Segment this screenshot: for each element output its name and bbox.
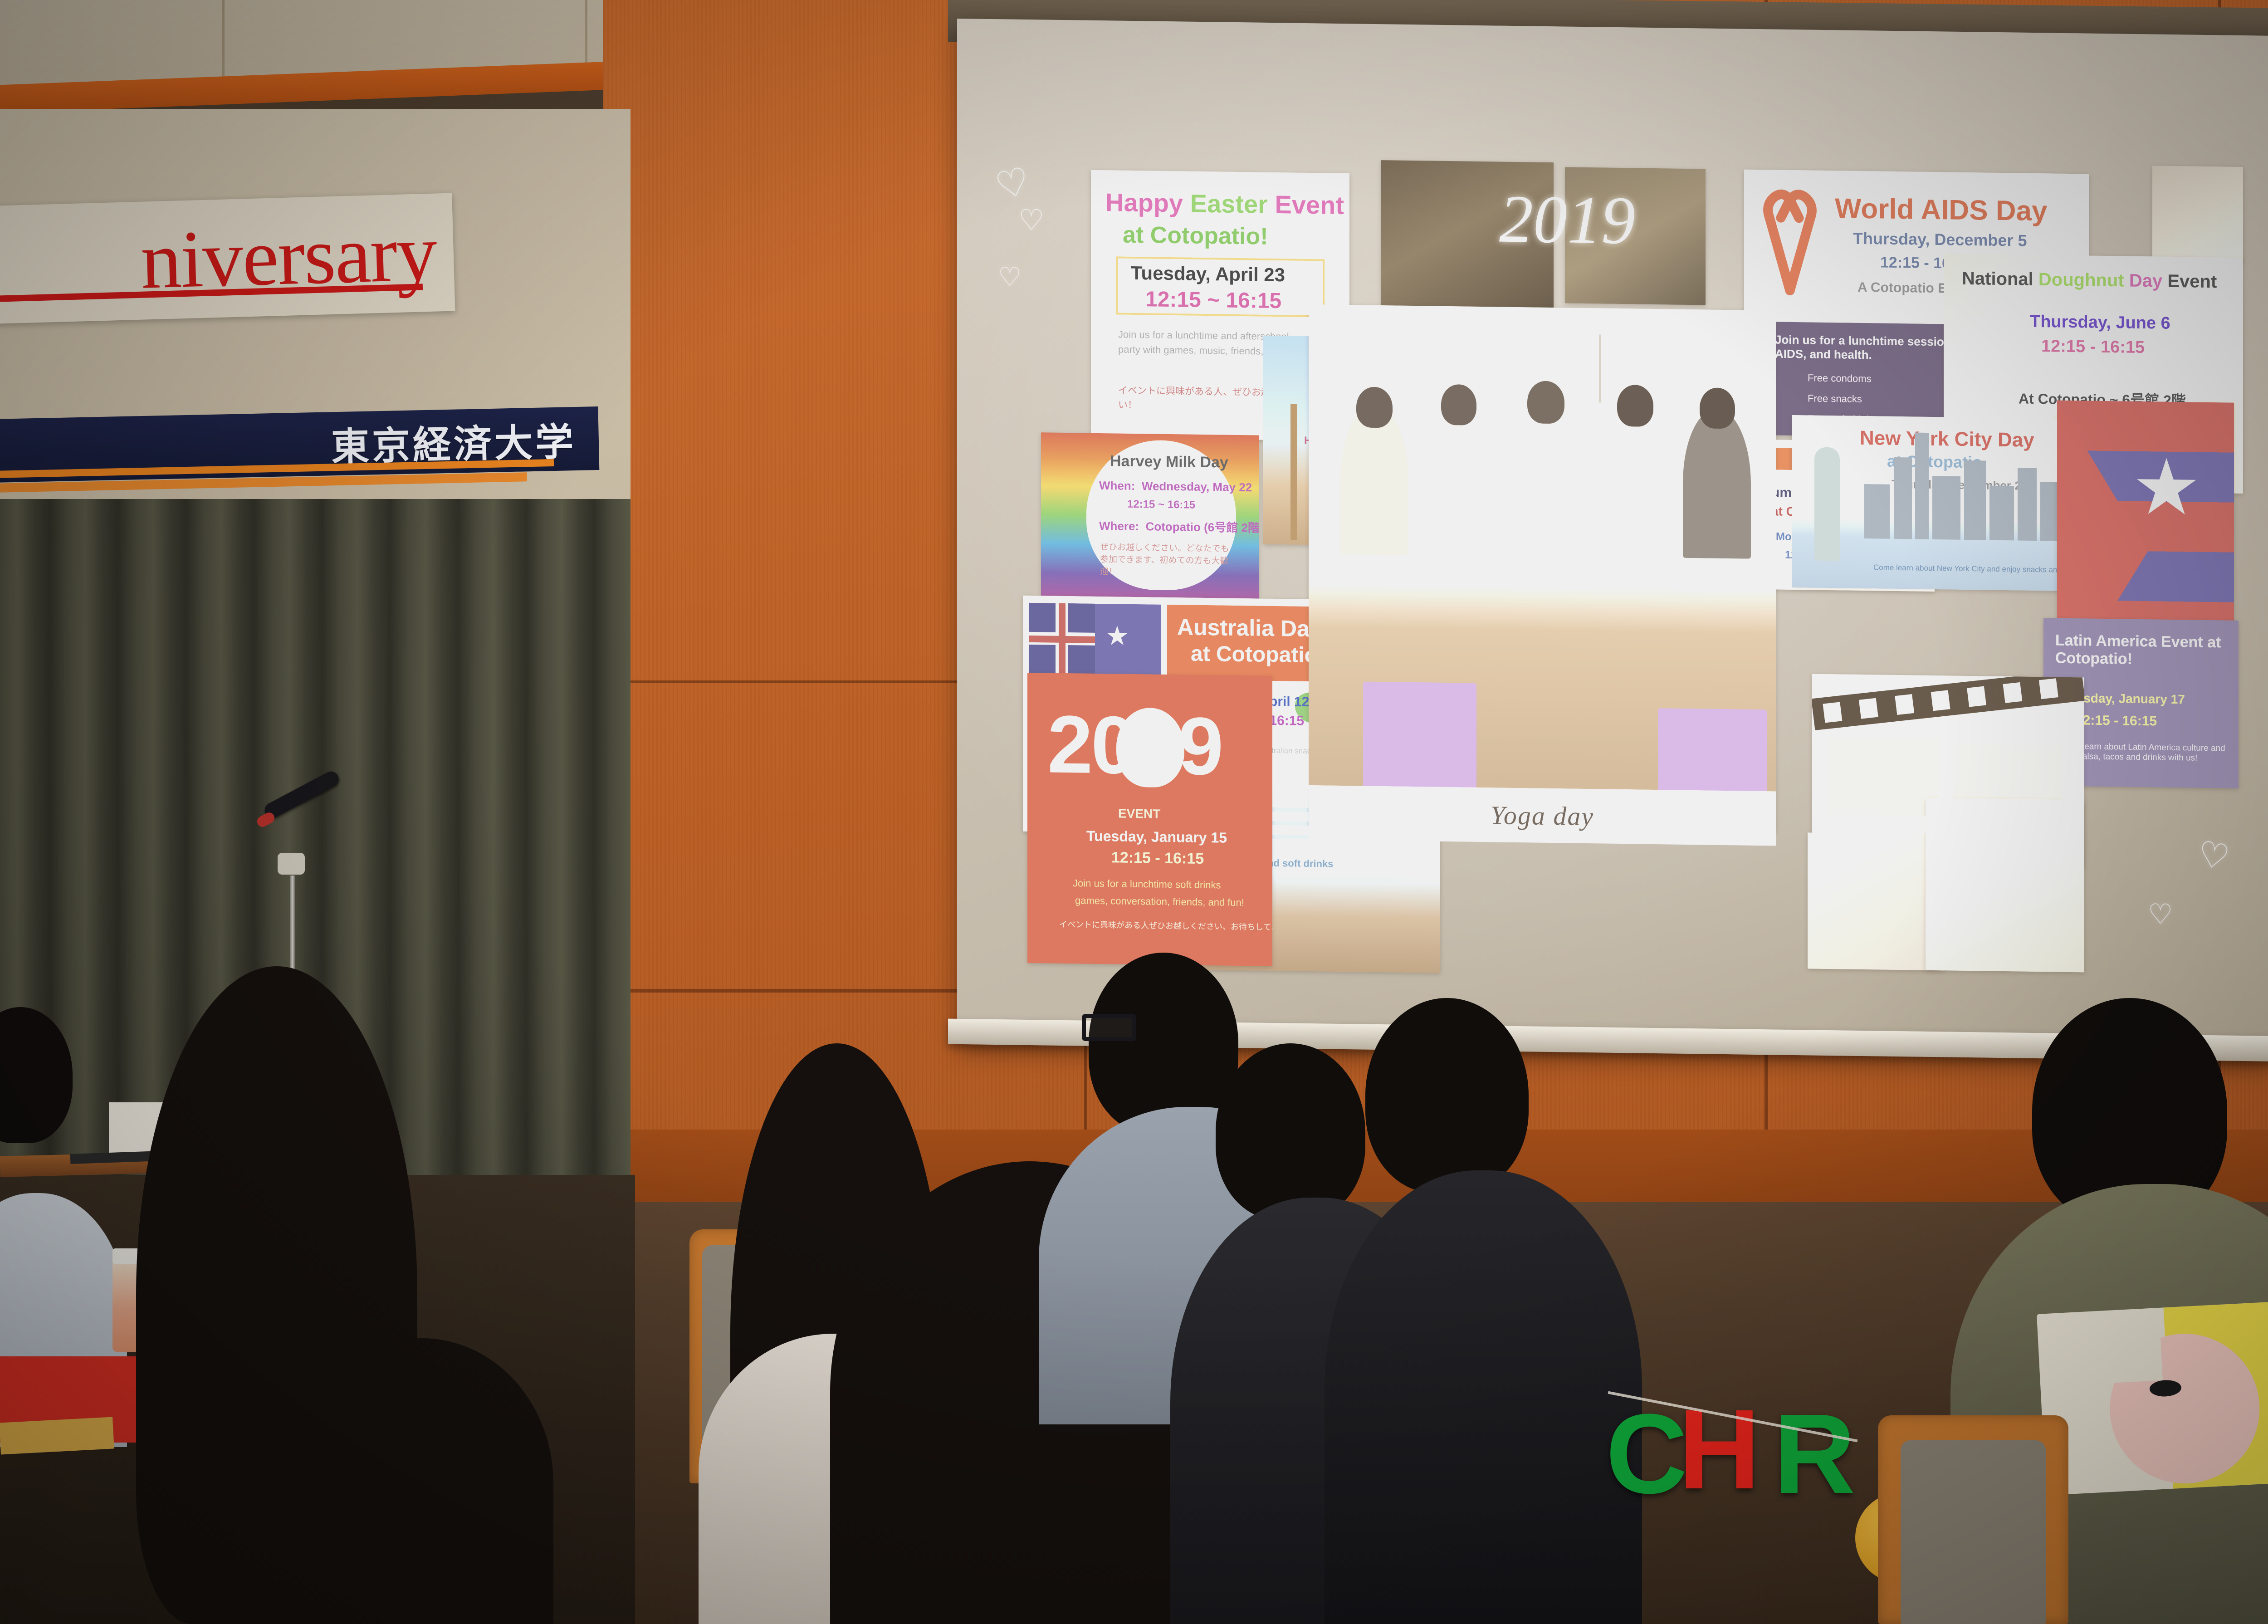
poster-doughnut-time: 12:15 - 16:15 xyxy=(2041,337,2145,357)
audience-shoulders xyxy=(1325,1170,1642,1624)
slide-collage: ♡ ♡ ♡ ♡ ♡ 2019 Happy Easter Event at Cot… xyxy=(1000,151,2241,979)
poster-2019-time: 12:15 - 16:15 xyxy=(1111,849,1204,868)
poster-2019-feature2: games, conversation, friends, and fun! xyxy=(1075,895,1244,909)
poster-easter-date: Tuesday, April 23 xyxy=(1131,262,1285,286)
audience-head xyxy=(1216,1043,1365,1220)
poster-milk-title: Harvey Milk Day xyxy=(1110,452,1228,471)
heart-doodle-icon: ♡ xyxy=(2195,835,2232,876)
poster-aids-date: Thursday, December 5 xyxy=(1853,229,2027,250)
poster-harvey-milk-day: Harvey Milk Day When: Wednesday, May 22 … xyxy=(1041,432,1259,598)
poster-nyc-title: New York City Day xyxy=(1860,427,2034,452)
heart-doodle-icon: ♡ xyxy=(998,264,1022,291)
heart-doodle-icon: ♡ xyxy=(1018,205,1044,235)
audience-head xyxy=(290,1338,553,1624)
poster-2019-feature1: Join us for a lunchtime soft drinks xyxy=(1073,877,1221,891)
poster-milk-where: Where: Cotopatio (6号館 2階) xyxy=(1099,517,1259,536)
poster-milk-time: 12:15 ~ 16:15 xyxy=(1127,498,1195,512)
poster-aids-title: World AIDS Day xyxy=(1835,192,2048,227)
event-photo xyxy=(2152,166,2243,262)
union-jack xyxy=(1029,603,1095,676)
popart-print xyxy=(2037,1299,2268,1496)
aids-ribbon-icon xyxy=(1760,182,1819,297)
poster-easter-subtitle: at Cotopatio! xyxy=(1123,221,1268,250)
poster-easter-time: 12:15 ~ 16:15 xyxy=(1145,287,1281,313)
pig-icon xyxy=(1116,707,1184,788)
yoga-caption-strip: Yoga day xyxy=(1309,785,1776,846)
anniversary-sign: niversary xyxy=(0,193,455,324)
poster-2019-label: EVENT xyxy=(1118,807,1160,822)
poster-milk-note-jp: ぜひお越しください。どなたでも参加できます、初めての方も大歓迎！ xyxy=(1100,540,1232,579)
audience-head xyxy=(1365,998,1529,1193)
audience-head xyxy=(1089,953,1238,1134)
yoga-caption-text: Yoga day xyxy=(1491,800,1594,832)
photo-yoga-group xyxy=(1309,304,1776,832)
balloon-letter-r: R xyxy=(1774,1397,1856,1511)
poster-australia-title: Australia Day xyxy=(1177,614,1322,642)
poster-latin-title: Latin America Event at Cotopatio! xyxy=(2055,632,2228,670)
poster-nyc-note: Come learn about New York City and enjoy… xyxy=(1873,563,2087,575)
lecture-hall-photo: niversary 東京経済大学 ♡ ♡ ♡ ♡ ♡ 2019 Happy xyxy=(0,0,2268,1624)
anniversary-sign-text: niversary xyxy=(140,212,438,302)
poster-2019-date: Tuesday, January 15 xyxy=(1086,828,1227,846)
university-banner: 東京経済大学 xyxy=(0,406,599,483)
poster-2019-note-jp: イベントに興味がある人ぜひお越しください、お待ちしております！ xyxy=(1059,918,1272,933)
poster-new-year-2019: 2019 EVENT Tuesday, January 15 12:15 - 1… xyxy=(1027,673,1272,966)
event-photo xyxy=(1926,798,2084,973)
balloon-letter-c: C xyxy=(1606,1397,1688,1511)
tree-decor xyxy=(1599,334,1601,402)
tree-trunk xyxy=(1290,404,1297,540)
poster-latin-time: 12:15 - 16:15 xyxy=(2075,713,2157,729)
event-photo xyxy=(1808,832,1944,970)
cuba-flag-star: ★ xyxy=(2132,460,2201,515)
eyeglasses-icon xyxy=(1082,1014,1136,1041)
heart-doodle-icon: ♡ xyxy=(2148,900,2173,929)
poster-doughnut-date: Thursday, June 6 xyxy=(2030,312,2170,333)
poster-milk-when-label: When: Wednesday, May 22 xyxy=(1099,479,1252,494)
poster-easter-title: Happy Easter Event xyxy=(1105,187,1344,220)
poster-doughnut-title: National Doughnut Day Event xyxy=(1962,269,2217,292)
chair-seatback xyxy=(1901,1440,2046,1624)
poster-aids-bullet: Free snacks xyxy=(1808,392,1862,405)
microphone-clip xyxy=(278,853,305,875)
poster-aids-bullet: Free condoms xyxy=(1808,372,1872,385)
handwritten-year: 2019 xyxy=(1499,180,1635,259)
yellow-item xyxy=(0,1417,114,1455)
poster-australia-subtitle: at Cotopatio! xyxy=(1191,641,1325,668)
filmstrip-band xyxy=(1812,674,2084,730)
statue-of-liberty-icon xyxy=(1814,447,1840,561)
